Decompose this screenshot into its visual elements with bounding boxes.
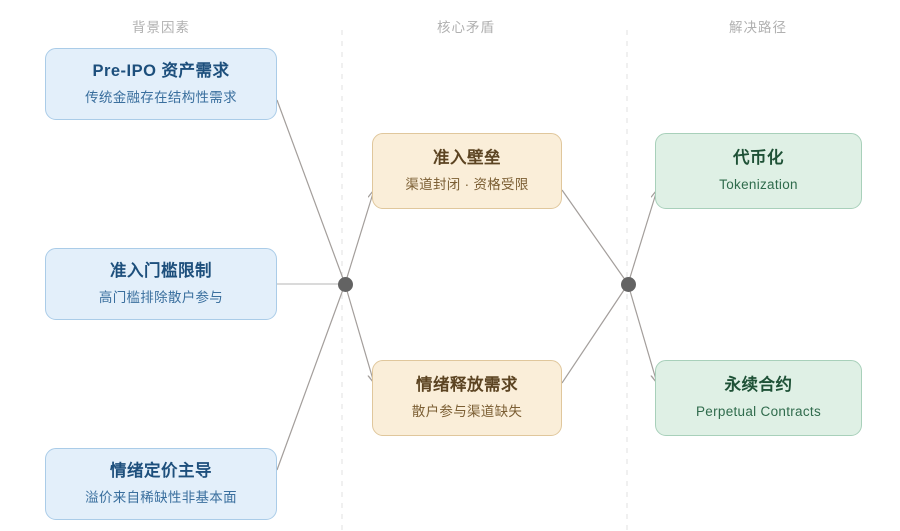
edge-pre-ipo-to-junction — [277, 100, 345, 284]
node-subtitle: 高门槛排除散户参与 — [99, 289, 223, 307]
node-entry-barrier[interactable]: 准入壁垒 渠道封闭 · 资格受限 — [372, 133, 562, 209]
diagram-canvas: 背景因素 核心矛盾 解决路径 Pre-IPO 资产需求 传统金融存在结构性需求 … — [0, 0, 900, 531]
node-title: 情绪释放需求 — [416, 375, 518, 396]
node-title: 代币化 — [733, 148, 784, 169]
node-subtitle: 传统金融存在结构性需求 — [85, 89, 237, 107]
node-title: 永续合约 — [725, 375, 793, 396]
node-title: 准入门槛限制 — [110, 261, 212, 282]
node-sentiment-pricing-dominance[interactable]: 情绪定价主导 溢价来自稀缺性非基本面 — [45, 448, 277, 520]
junction-right — [621, 277, 636, 292]
edge-junction-to-entry-barrier — [345, 190, 374, 284]
column-header-core-conflict: 核心矛盾 — [366, 16, 566, 36]
node-subtitle: 散户参与渠道缺失 — [412, 403, 522, 421]
node-title: 情绪定价主导 — [110, 461, 212, 482]
node-title: Pre-IPO 资产需求 — [92, 61, 229, 82]
column-header-solution-path: 解决路径 — [658, 16, 858, 36]
edge-sentiment-pricing-to-junction — [277, 284, 345, 470]
edge-entry-barrier-to-junction — [562, 190, 628, 284]
node-entry-threshold-limit[interactable]: 准入门槛限制 高门槛排除散户参与 — [45, 248, 277, 320]
edge-junction-to-tokenization — [628, 190, 657, 284]
junction-left — [338, 277, 353, 292]
edge-junction-to-sentiment-release — [345, 284, 374, 383]
edge-sentiment-release-to-junction — [562, 284, 628, 383]
node-title: 准入壁垒 — [433, 148, 501, 169]
node-pre-ipo-demand[interactable]: Pre-IPO 资产需求 传统金融存在结构性需求 — [45, 48, 277, 120]
node-subtitle: 溢价来自稀缺性非基本面 — [85, 489, 237, 507]
node-sentiment-release-demand[interactable]: 情绪释放需求 散户参与渠道缺失 — [372, 360, 562, 436]
node-subtitle: Perpetual Contracts — [696, 403, 821, 421]
node-subtitle: 渠道封闭 · 资格受限 — [405, 176, 528, 194]
column-header-background: 背景因素 — [61, 16, 261, 36]
node-perpetual-contracts[interactable]: 永续合约 Perpetual Contracts — [655, 360, 862, 436]
node-subtitle: Tokenization — [719, 176, 798, 194]
node-tokenization[interactable]: 代币化 Tokenization — [655, 133, 862, 209]
edge-junction-to-perpetual — [628, 284, 657, 383]
